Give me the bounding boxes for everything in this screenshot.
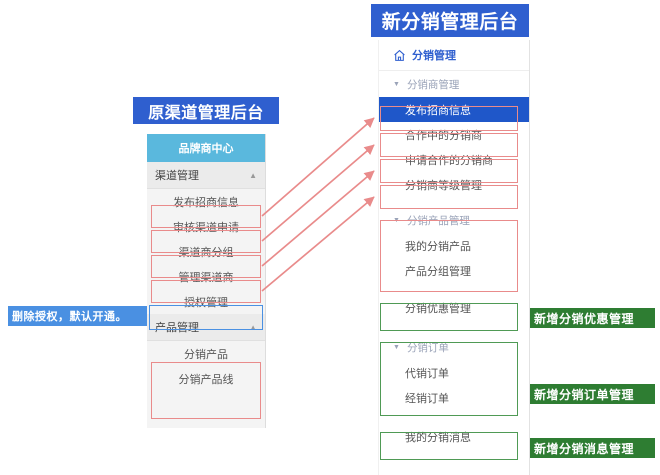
new-item-product-group-management[interactable]: 产品分组管理 bbox=[379, 258, 529, 283]
old-item-manage-channels[interactable]: 管理渠道商 bbox=[147, 264, 265, 289]
label-new-coupon-management: 新增分销优惠管理 bbox=[513, 308, 655, 328]
new-backend-title: 新分销管理后台 bbox=[371, 4, 529, 37]
chevron-down-icon: ▼ bbox=[393, 344, 400, 351]
old-group-product-label: 产品管理 bbox=[155, 319, 199, 335]
new-group-distribution-orders[interactable]: ▼ 分销订单 bbox=[379, 334, 529, 360]
old-sidebar-header: 品牌商中心 bbox=[147, 134, 265, 162]
chevron-down-icon: ▼ bbox=[393, 81, 400, 88]
old-backend-title: 原渠道管理后台 bbox=[133, 97, 279, 124]
old-item-distribution-product-line[interactable]: 分销产品线 bbox=[147, 366, 265, 391]
new-sidebar-home-label: 分销管理 bbox=[412, 47, 456, 63]
new-sidebar-panel: 分销管理 ▼ 分销商管理 发布招商信息 合作中的分销商 申请合作的分销商 分销商… bbox=[378, 40, 530, 475]
chevron-down-icon: ▼ bbox=[393, 217, 400, 224]
old-item-channel-grouping[interactable]: 渠道商分组 bbox=[147, 239, 265, 264]
old-sidebar-panel: 品牌商中心 渠道管理 ▲ 发布招商信息 审核渠道申请 渠道商分组 管理渠道商 授… bbox=[147, 134, 266, 428]
new-item-cooperating-distributors[interactable]: 合作中的分销商 bbox=[379, 122, 529, 147]
old-item-publish-recruitment[interactable]: 发布招商信息 bbox=[147, 189, 265, 214]
label-new-order-management: 新增分销订单管理 bbox=[513, 384, 655, 404]
old-group-channel-label: 渠道管理 bbox=[155, 167, 199, 183]
old-group-channel-management[interactable]: 渠道管理 ▲ bbox=[147, 162, 265, 189]
old-group-product-management[interactable]: 产品管理 ▲ bbox=[147, 314, 265, 341]
chevron-up-icon: ▲ bbox=[249, 323, 257, 332]
new-item-applying-distributors[interactable]: 申请合作的分销商 bbox=[379, 147, 529, 172]
old-item-review-channel-application[interactable]: 审核渠道申请 bbox=[147, 214, 265, 239]
new-group-distributor-management[interactable]: ▼ 分销商管理 bbox=[379, 71, 529, 97]
old-item-authorization-management[interactable]: 授权管理 bbox=[147, 289, 265, 314]
auth-removed-note: 删除授权，默认开通。 bbox=[8, 306, 149, 326]
diagram-canvas: 新分销管理后台 原渠道管理后台 删除授权，默认开通。 新增分销优惠管理 新增分销… bbox=[0, 0, 660, 475]
new-group-product-label: 分销产品管理 bbox=[407, 213, 470, 228]
new-item-distributor-level-management[interactable]: 分销商等级管理 bbox=[379, 172, 529, 197]
new-sidebar-home[interactable]: 分销管理 bbox=[379, 40, 529, 71]
label-new-message-management: 新增分销消息管理 bbox=[513, 438, 655, 458]
new-group-orders-label: 分销订单 bbox=[407, 340, 449, 355]
new-item-dealer-orders[interactable]: 经销订单 bbox=[379, 385, 529, 410]
old-item-distribution-product[interactable]: 分销产品 bbox=[147, 341, 265, 366]
home-icon bbox=[393, 49, 406, 62]
new-group-product-management[interactable]: ▼ 分销产品管理 bbox=[379, 207, 529, 233]
new-item-my-distribution-products[interactable]: 我的分销产品 bbox=[379, 233, 529, 258]
new-item-coupon-management[interactable]: 分销优惠管理 bbox=[379, 295, 529, 320]
chevron-up-icon: ▲ bbox=[249, 171, 257, 180]
new-item-publish-recruitment[interactable]: 发布招商信息 bbox=[379, 97, 529, 122]
new-item-consignment-orders[interactable]: 代销订单 bbox=[379, 360, 529, 385]
new-item-my-distribution-messages[interactable]: 我的分销消息 bbox=[379, 424, 529, 449]
new-group-distributor-label: 分销商管理 bbox=[407, 77, 460, 92]
